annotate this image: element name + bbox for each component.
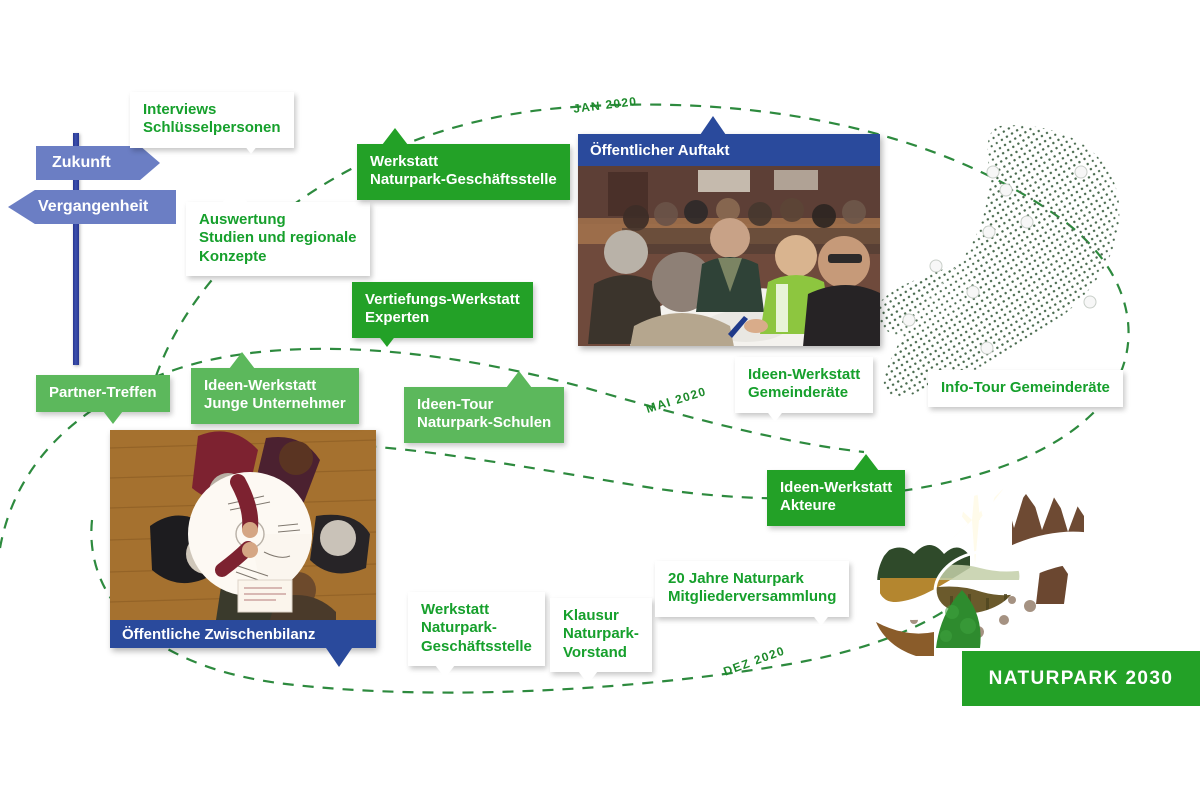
infographic-canvas: Zukunft Vergangenheit [0,0,1200,800]
logo-wordmark-band: NATURPARK 2030 [962,651,1200,706]
logo-wordmark: NATURPARK 2030 [989,668,1174,690]
